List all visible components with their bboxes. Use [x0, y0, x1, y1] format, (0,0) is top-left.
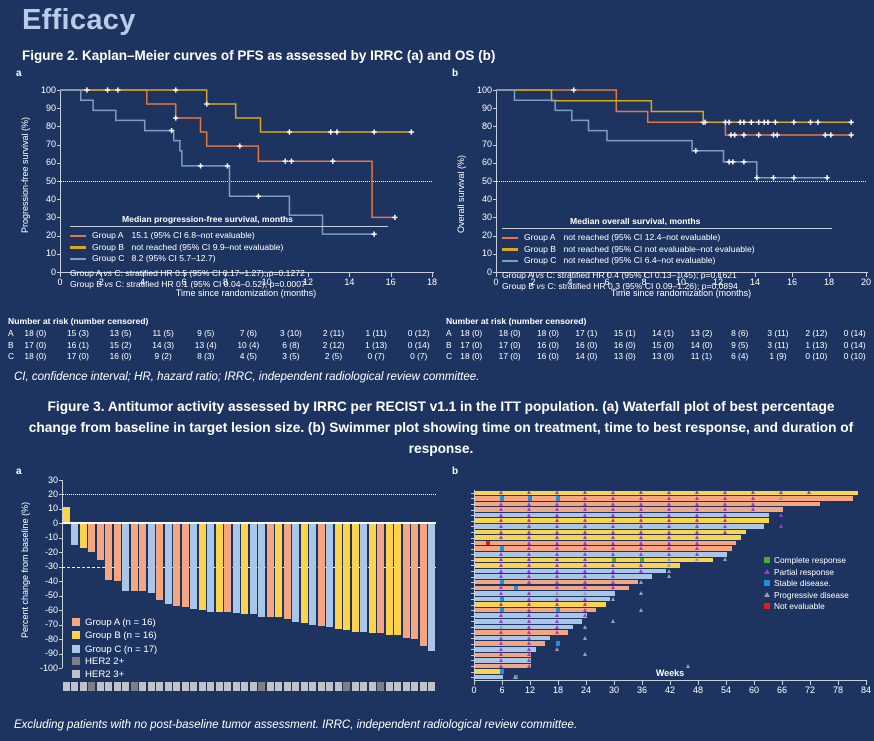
waterfall-bar	[148, 523, 155, 592]
y-axis-tick	[471, 588, 474, 589]
risk-cell: 15 (1)	[606, 328, 644, 340]
response-marker-pr	[667, 518, 671, 522]
waterfall-bar	[352, 523, 359, 631]
x-axis-tick-label: 54	[716, 685, 736, 695]
risk-cell: 8 (6)	[721, 328, 759, 340]
x-axis-tick-label: 42	[660, 685, 680, 695]
risk-cell: 3 (11)	[759, 340, 797, 352]
response-marker-sd	[556, 641, 560, 645]
waterfall-group-legend: Group A (n = 16)Group B (n = 16)Group C …	[72, 616, 157, 657]
risk-cell: 2 (12)	[312, 340, 355, 352]
response-marker-pr	[499, 647, 503, 651]
legend-row: HER2 2+	[72, 655, 124, 669]
response-marker-pr	[499, 613, 503, 617]
her2-status-marker	[165, 682, 172, 691]
waterfall-bar	[105, 523, 112, 579]
response-marker-pd	[667, 563, 671, 567]
x-axis-tick	[698, 681, 699, 685]
her2-status-marker	[131, 682, 138, 691]
x-axis-tick	[530, 681, 531, 685]
response-marker-pr	[499, 557, 503, 561]
response-marker-pr	[555, 630, 559, 634]
legend-header: Median overall survival, months	[502, 216, 832, 226]
x-axis-tick-label: 18	[548, 685, 568, 695]
stat-line: Group B vs C: stratified HR 0.1 (95% CI …	[70, 279, 388, 291]
her2-status-marker	[258, 682, 265, 691]
swimmer-bar	[475, 524, 764, 529]
her2-status-marker	[377, 682, 384, 691]
swimmer-bar	[475, 630, 568, 635]
her2-status-marker	[139, 682, 146, 691]
swimmer-bar	[475, 675, 503, 680]
waterfall-bar	[80, 523, 87, 548]
legend-swatch	[72, 670, 80, 678]
legend-swatch-group-b	[502, 244, 524, 256]
y-axis-tick	[59, 610, 63, 611]
response-marker-pr	[555, 597, 559, 601]
waterfall-bar	[250, 523, 257, 614]
chart-fig2a-pfs-km: Progression-free survival (%)01020304050…	[14, 78, 440, 306]
response-marker-pr	[583, 585, 587, 589]
waterfall-bar	[182, 523, 189, 607]
risk-cell: 9 (5)	[184, 328, 227, 340]
waterfall-bar	[309, 523, 316, 624]
response-marker-pr	[583, 496, 587, 500]
y-axis-tick	[471, 655, 474, 656]
legend-swatch-group-a	[502, 232, 524, 244]
her2-status-marker	[80, 682, 87, 691]
legend-label: Partial response	[774, 567, 834, 577]
x-axis-tick-label: 24	[576, 685, 596, 695]
waterfall-bar	[131, 523, 138, 591]
response-marker-pr	[583, 546, 587, 550]
swimmer-bar	[475, 507, 783, 512]
response-marker-pr	[527, 636, 531, 640]
her2-status-marker	[207, 682, 214, 691]
response-marker-pr	[499, 619, 503, 623]
response-marker-pr	[667, 524, 671, 528]
y-axis-tick	[471, 660, 474, 661]
response-marker-pr	[751, 507, 755, 511]
risk-table-fig2b: Number at risk (number censored)A18 (0)1…	[446, 316, 874, 363]
y-axis-tick	[471, 672, 474, 673]
waterfall-bar	[301, 523, 308, 623]
swimmer-bar	[475, 608, 596, 613]
response-marker-pr	[667, 490, 671, 494]
x-axis-tick	[838, 681, 839, 685]
waterfall-bar	[386, 523, 393, 634]
legend-row: Group B (n = 16)	[72, 629, 157, 643]
response-marker-pr	[527, 580, 531, 584]
legend-swatch-group-c	[70, 253, 92, 265]
response-marker-pr	[527, 490, 531, 494]
waterfall-bar	[360, 523, 367, 631]
risk-cell: 1 (11)	[355, 328, 398, 340]
risk-cell: 1 (9)	[759, 351, 797, 363]
response-marker-pr	[611, 552, 615, 556]
risk-cell: 16 (1)	[57, 340, 100, 352]
waterfall-bar	[88, 523, 95, 552]
waterfall-bar	[97, 523, 104, 559]
response-marker-pr	[611, 530, 615, 534]
risk-cell: 3 (11)	[759, 328, 797, 340]
x-axis-tick	[586, 681, 587, 685]
risk-cell: 15 (0)	[644, 340, 682, 352]
figure3-title: Figure 3. Antitumor activity assessed by…	[22, 396, 860, 459]
response-marker-pr	[695, 552, 699, 556]
response-marker-pr	[527, 591, 531, 595]
response-marker-pr	[667, 541, 671, 545]
her2-status-marker	[267, 682, 274, 691]
x-axis-tick-label: 30	[604, 685, 624, 695]
response-marker-pr	[555, 541, 559, 545]
response-marker-pd	[499, 625, 503, 629]
response-marker-pr	[555, 518, 559, 522]
response-marker-pr	[527, 557, 531, 561]
waterfall-bar	[411, 523, 418, 639]
response-marker-pr	[639, 530, 643, 534]
legend-row: Group C8.2 (95% CI 5.7–12.7)	[70, 253, 283, 265]
y-axis-tick-label: 20	[32, 489, 58, 499]
waterfall-bar	[420, 523, 427, 646]
response-marker-pr	[611, 518, 615, 522]
stat-line: Group B vs C: stratified HR 0.3 (95% CI …	[502, 281, 832, 293]
response-marker-pr	[611, 541, 615, 545]
response-marker-pr	[583, 513, 587, 517]
y-axis-tick	[471, 510, 474, 511]
risk-table-row: C18 (0)17 (0)16 (0)14 (0)13 (0)13 (0)11 …	[446, 351, 874, 363]
x-axis-tick	[866, 681, 867, 685]
response-marker-sd	[556, 496, 560, 500]
waterfall-bar	[318, 523, 325, 626]
zero-baseline	[62, 522, 436, 524]
response-marker-pr	[583, 613, 587, 617]
risk-cell: 13 (0)	[644, 351, 682, 363]
response-marker-pr	[499, 518, 503, 522]
y-axis-tick	[59, 639, 63, 640]
risk-row-label: C	[446, 351, 452, 363]
waterfall-bar	[139, 523, 146, 591]
response-marker-pr	[555, 585, 559, 589]
y-axis-tick	[471, 644, 474, 645]
y-axis-tick	[59, 538, 63, 539]
risk-cell: 17 (0)	[490, 351, 528, 363]
response-marker-pr	[695, 502, 699, 506]
response-marker-pr	[695, 535, 699, 539]
response-marker-sd	[500, 669, 504, 673]
response-marker-pr	[611, 513, 615, 517]
response-marker-pr	[639, 552, 643, 556]
her2-status-marker	[428, 682, 435, 691]
her2-status-marker	[114, 682, 121, 691]
risk-cell: 2 (12)	[797, 328, 835, 340]
response-marker-pr	[499, 636, 503, 640]
legend-label: HER2 3+	[85, 669, 124, 680]
y-axis-tick	[471, 649, 474, 650]
page-title: Efficacy	[22, 4, 136, 37]
response-marker-pr	[499, 530, 503, 534]
y-axis-tick	[471, 498, 474, 499]
her2-status-marker	[318, 682, 325, 691]
x-axis-tick	[754, 681, 755, 685]
response-marker-sd	[500, 546, 504, 550]
response-marker-pr	[723, 490, 727, 494]
risk-cell: 15 (2)	[99, 340, 142, 352]
waterfall-bar	[377, 523, 384, 633]
response-marker-pr	[583, 608, 587, 612]
response-marker-pr	[527, 518, 531, 522]
legend-swatch-group-a	[70, 230, 92, 242]
risk-cell: 3 (10)	[270, 328, 313, 340]
response-marker-pr	[527, 608, 531, 612]
response-marker-pr	[583, 524, 587, 528]
waterfall-bar	[428, 523, 435, 650]
response-marker-pr	[639, 535, 643, 539]
response-marker-ne	[486, 541, 490, 545]
response-marker-pr	[583, 541, 587, 545]
legend-swatch-group-b	[70, 242, 92, 254]
response-marker-pr	[527, 569, 531, 573]
response-marker-pd	[667, 574, 671, 578]
risk-cell: 18 (0)	[490, 328, 528, 340]
response-marker-pr	[527, 535, 531, 539]
response-marker-pr	[583, 552, 587, 556]
swimmer-bar	[475, 563, 680, 568]
legend-row: Group A15.1 (95% CI 6.8–not evaluable)	[70, 230, 283, 242]
response-marker-pd	[779, 496, 783, 500]
response-marker-pd	[611, 619, 615, 623]
response-marker-pr	[555, 563, 559, 567]
risk-cell: 0 (14)	[836, 340, 874, 352]
response-marker-pr	[695, 507, 699, 511]
km-legend: Median overall survival, monthsGroup Ano…	[502, 216, 832, 293]
response-marker-pr	[695, 530, 699, 534]
waterfall-her2-legend: HER2 2+HER2 3+	[72, 655, 124, 682]
response-marker-pr	[807, 490, 811, 494]
response-marker-pr	[639, 502, 643, 506]
y-axis-tick	[471, 560, 474, 561]
her2-status-marker	[182, 682, 189, 691]
swimmer-bar	[475, 546, 732, 551]
poster-slide: Efficacy Figure 2. Kaplan–Meier curves o…	[0, 0, 874, 741]
response-marker-pr	[527, 664, 531, 668]
response-marker-pd	[583, 636, 587, 640]
y-axis-tick-label: -20	[32, 547, 58, 557]
legend-label: Group C (n = 17)	[85, 644, 157, 655]
response-marker-pr	[611, 502, 615, 506]
response-marker-pr	[499, 574, 503, 578]
response-marker-pr	[583, 502, 587, 506]
legend-marker	[764, 580, 770, 586]
her2-status-marker	[216, 682, 223, 691]
legend-label: Group C	[92, 253, 131, 265]
response-marker-pr	[583, 597, 587, 601]
risk-cell: 1 (13)	[797, 340, 835, 352]
response-marker-pr	[723, 513, 727, 517]
response-marker-pr	[555, 619, 559, 623]
legend-row: Group Bnot reached (95% CI 9.9–not evalu…	[70, 242, 283, 254]
x-axis-tick-label: 84	[856, 685, 874, 695]
response-marker-pr	[555, 574, 559, 578]
risk-cell: 10 (4)	[227, 340, 270, 352]
x-axis-tick	[782, 681, 783, 685]
risk-cell: 0 (14)	[836, 328, 874, 340]
her2-status-marker	[369, 682, 376, 691]
waterfall-bar	[216, 523, 223, 611]
risk-cell: 13 (2)	[682, 328, 720, 340]
risk-table-row: A18 (0)18 (0)18 (0)17 (1)15 (1)14 (1)13 …	[446, 328, 874, 340]
y-axis-tick	[471, 577, 474, 578]
her2-status-marker	[403, 682, 410, 691]
y-axis-tick-label: 0	[32, 518, 58, 528]
response-marker-pr	[527, 619, 531, 623]
her2-status-marker	[224, 682, 231, 691]
legend-row: Group Cnot reached (95% CI 6.4–not evalu…	[502, 255, 755, 267]
footnote-figure3: Excluding patients with no post-baseline…	[14, 719, 577, 731]
x-axis-tick	[642, 681, 643, 685]
risk-cell: 6 (8)	[270, 340, 313, 352]
response-marker-pr	[527, 613, 531, 617]
response-marker-pr	[639, 490, 643, 494]
y-axis-tick	[471, 571, 474, 572]
response-marker-pr	[527, 530, 531, 534]
response-marker-pd	[639, 580, 643, 584]
y-axis-tick-label: 10	[32, 503, 58, 513]
risk-cell: 3 (5)	[270, 351, 313, 363]
y-axis-tick	[471, 515, 474, 516]
response-marker-pr	[527, 625, 531, 629]
y-axis-tick-label: -30	[32, 561, 58, 571]
response-marker-pr	[779, 513, 783, 517]
risk-cell: 4 (5)	[227, 351, 270, 363]
risk-cell: 15 (3)	[57, 328, 100, 340]
swimmer-bar	[475, 569, 666, 574]
response-marker-pr	[555, 502, 559, 506]
response-marker-pr	[555, 569, 559, 573]
response-marker-pr	[499, 602, 503, 606]
risk-cell: 2 (11)	[312, 328, 355, 340]
her2-status-marker	[241, 682, 248, 691]
response-marker-pr	[527, 574, 531, 578]
y-axis-tick-label: -40	[32, 576, 58, 586]
response-marker-pr	[527, 546, 531, 550]
y-axis-tick	[59, 654, 63, 655]
response-marker-pr	[695, 496, 699, 500]
waterfall-bar	[207, 523, 214, 611]
footnote-figure2: CI, confidence interval; HR, hazard rati…	[14, 371, 479, 383]
x-axis-tick-label: 72	[800, 685, 820, 695]
legend-median-value: not reached (95% CI not evaluable–not ev…	[563, 244, 754, 256]
response-marker-pr	[499, 524, 503, 528]
response-marker-pr	[527, 652, 531, 656]
risk-cell: 14 (0)	[567, 351, 605, 363]
response-marker-pr	[695, 541, 699, 545]
legend-median-value: not reached (95% CI 6.4–not evaluable)	[563, 255, 754, 267]
swimmer-bar	[475, 669, 503, 674]
waterfall-bar	[190, 523, 197, 608]
legend-median-value: not reached (95% CI 12.4–not evaluable)	[563, 232, 754, 244]
legend-label: Progressive disease	[774, 590, 849, 600]
y-axis-tick	[471, 627, 474, 628]
legend-label: Group B (n = 16)	[85, 630, 157, 641]
response-marker-pr	[527, 658, 531, 662]
her2-status-marker	[63, 682, 70, 691]
response-marker-pr	[695, 490, 699, 494]
response-marker-pr	[751, 490, 755, 494]
response-marker-pd	[667, 569, 671, 573]
response-marker-pd	[583, 652, 587, 656]
response-marker-pr	[639, 569, 643, 573]
legend-row: Group Bnot reached (95% CI not evaluable…	[502, 244, 755, 256]
response-marker-pr	[667, 496, 671, 500]
waterfall-bar	[343, 523, 350, 630]
legend-median-value: 8.2 (95% CI 5.7–12.7)	[131, 253, 283, 265]
legend-swatch	[72, 618, 80, 626]
response-marker-pr	[555, 490, 559, 494]
legend-row: Stable disease.	[764, 578, 849, 590]
her2-status-marker	[71, 682, 78, 691]
x-axis-tick-label: 0	[464, 685, 484, 695]
response-marker-pr	[611, 580, 615, 584]
response-marker-pr	[667, 546, 671, 550]
waterfall-bar	[275, 523, 282, 617]
legend-swatch-group-c	[502, 255, 524, 267]
risk-cell: 9 (5)	[721, 340, 759, 352]
response-marker-pr	[499, 630, 503, 634]
x-axis-tick-label: 48	[688, 685, 708, 695]
her2-status-marker	[394, 682, 401, 691]
risk-table-header: Number at risk (number censored)	[446, 316, 874, 326]
response-marker-pr	[639, 507, 643, 511]
risk-cell: 7 (6)	[227, 328, 270, 340]
her2-status-marker	[97, 682, 104, 691]
x-axis-tick-label: 36	[632, 685, 652, 695]
legend-label: Group A	[92, 230, 131, 242]
risk-cell: 16 (0)	[567, 340, 605, 352]
x-axis-tick	[614, 681, 615, 685]
response-marker-pr	[639, 513, 643, 517]
response-marker-pr	[779, 490, 783, 494]
her2-status-marker	[190, 682, 197, 691]
response-marker-pr	[779, 524, 783, 528]
response-marker-pr	[611, 524, 615, 528]
response-marker-pr	[583, 518, 587, 522]
response-marker-sd	[528, 496, 532, 500]
response-marker-pr	[723, 502, 727, 506]
legend-marker	[764, 592, 770, 597]
y-axis-tick-label: -100	[32, 663, 58, 673]
x-axis-tick	[670, 681, 671, 685]
y-axis-tick-label: -80	[32, 634, 58, 644]
y-axis-tick-label: -70	[32, 619, 58, 629]
response-marker-pr	[723, 518, 727, 522]
x-axis-tick	[726, 681, 727, 685]
response-marker-pr	[499, 652, 503, 656]
response-marker-pr	[611, 535, 615, 539]
risk-cell: 0 (10)	[836, 351, 874, 363]
risk-cell: 16 (0)	[606, 340, 644, 352]
risk-cell: 14 (0)	[682, 340, 720, 352]
risk-cell: 0 (7)	[397, 351, 440, 363]
response-marker-pr	[667, 502, 671, 506]
response-marker-pr	[583, 530, 587, 534]
risk-cell: 16 (0)	[529, 340, 567, 352]
legend-label: Group B	[524, 244, 563, 256]
response-marker-pr	[583, 569, 587, 573]
risk-cell: 0 (14)	[397, 340, 440, 352]
response-marker-pr	[583, 490, 587, 494]
waterfall-bar	[292, 523, 299, 621]
